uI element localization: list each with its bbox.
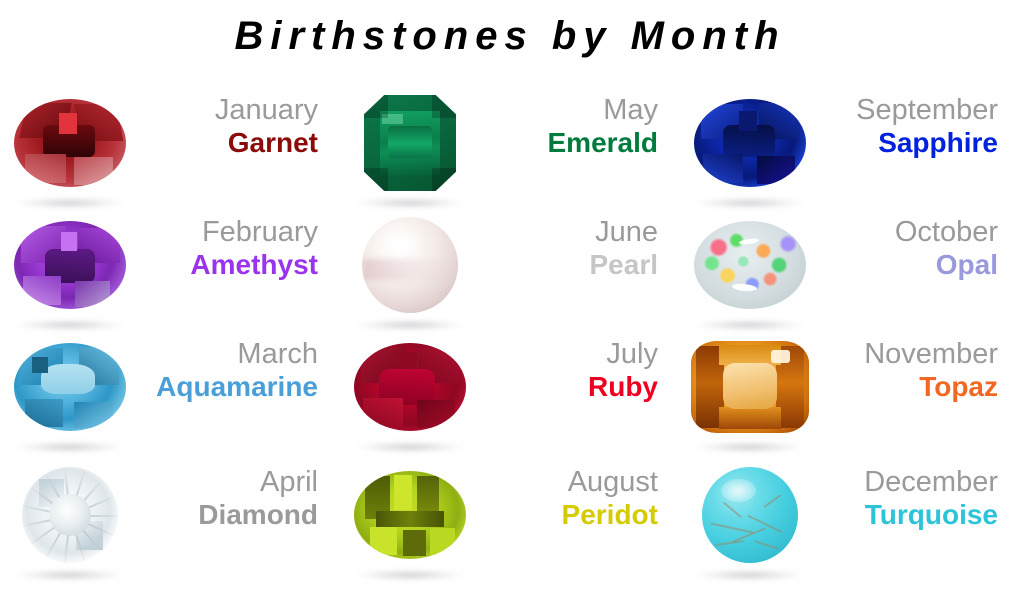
stone-label: Peridot [480,500,658,529]
month-label: March [140,339,318,369]
diamond-round-gem [22,467,118,563]
gem-shadow [355,441,464,453]
birthstone-card-january[interactable]: January Garnet [0,82,340,204]
birthstone-labels: April Diamond [140,454,340,529]
stone-label: Emerald [480,128,658,157]
birthstone-grid: January Garnet May Emerald [0,82,1020,598]
birthstone-labels: January Garnet [140,82,340,157]
birthstone-labels: November Topaz [820,326,1020,401]
birthstone-card-september[interactable]: September Sapphire [680,82,1020,204]
stone-label: Garnet [140,128,318,157]
gem-image-november [680,326,820,448]
gem-image-december [680,454,820,576]
birthstone-card-march[interactable]: March Aquamarine [0,326,340,454]
gem-shadow [695,441,804,453]
stone-label: Topaz [820,372,998,401]
month-label: November [820,339,998,369]
birthstone-labels: June Pearl [480,204,680,279]
birthstone-card-february[interactable]: February Amethyst [0,204,340,326]
birthstone-labels: September Sapphire [820,82,1020,157]
month-label: May [480,95,658,125]
gem-image-april [0,454,140,576]
month-label: August [480,467,658,497]
birthstone-card-october[interactable]: October Opal [680,204,1020,326]
stone-label: Turquoise [820,500,998,529]
turquoise-cabochon-gem [702,467,798,563]
birthstone-labels: August Peridot [480,454,680,529]
stone-label: Pearl [480,250,658,279]
emerald-cut-gem [364,95,456,191]
gem-shadow [695,569,804,581]
opal-cabochon-gem [694,221,806,309]
month-label: June [480,217,658,247]
stone-label: Sapphire [820,128,998,157]
gem-image-october [680,204,820,326]
birthstone-labels: October Opal [820,204,1020,279]
page-title: Birthstones by Month [0,14,1020,59]
month-label: September [820,95,998,125]
birthstone-labels: February Amethyst [140,204,340,279]
gem-image-august [340,454,480,576]
birthstone-card-may[interactable]: May Emerald [340,82,680,204]
birthstone-card-november[interactable]: November Topaz [680,326,1020,454]
gem-image-january [0,82,140,204]
gem-shadow [15,569,124,581]
diamond-facets [22,467,118,563]
gem-image-july [340,326,480,448]
peridot-oval-gem [354,471,466,559]
month-label: February [140,217,318,247]
gem-image-may [340,82,480,204]
stone-label: Opal [820,250,998,279]
birthstone-labels: July Ruby [480,326,680,401]
gem-image-march [0,326,140,448]
gem-shadow [15,441,124,453]
pearl-sphere-gem [362,217,458,313]
birthstone-card-december[interactable]: December Turquoise [680,454,1020,582]
month-label: December [820,467,998,497]
birthstone-card-august[interactable]: August Peridot [340,454,680,582]
month-label: April [140,467,318,497]
stone-label: Amethyst [140,250,318,279]
birthstone-card-july[interactable]: July Ruby [340,326,680,454]
birthstone-card-april[interactable]: April Diamond [0,454,340,582]
garnet-oval-gem [14,99,126,187]
stone-label: Diamond [140,500,318,529]
stone-label: Ruby [480,372,658,401]
ruby-oval-gem [354,343,466,431]
gem-shadow [355,569,464,581]
month-label: October [820,217,998,247]
birthstone-card-june[interactable]: June Pearl [340,204,680,326]
birthstone-labels: December Turquoise [820,454,1020,529]
birthstone-labels: March Aquamarine [140,326,340,401]
birthstone-chart-page: Birthstones by Month January Garnet [0,0,1020,600]
gem-image-february [0,204,140,326]
sapphire-oval-gem [694,99,806,187]
topaz-cushion-gem [691,341,809,433]
stone-label: Aquamarine [140,372,318,401]
month-label: July [480,339,658,369]
amethyst-oval-gem [14,221,126,309]
birthstone-labels: May Emerald [480,82,680,157]
aquamarine-oval-gem [14,343,126,431]
month-label: January [140,95,318,125]
gem-image-september [680,82,820,204]
gem-image-june [340,204,480,326]
